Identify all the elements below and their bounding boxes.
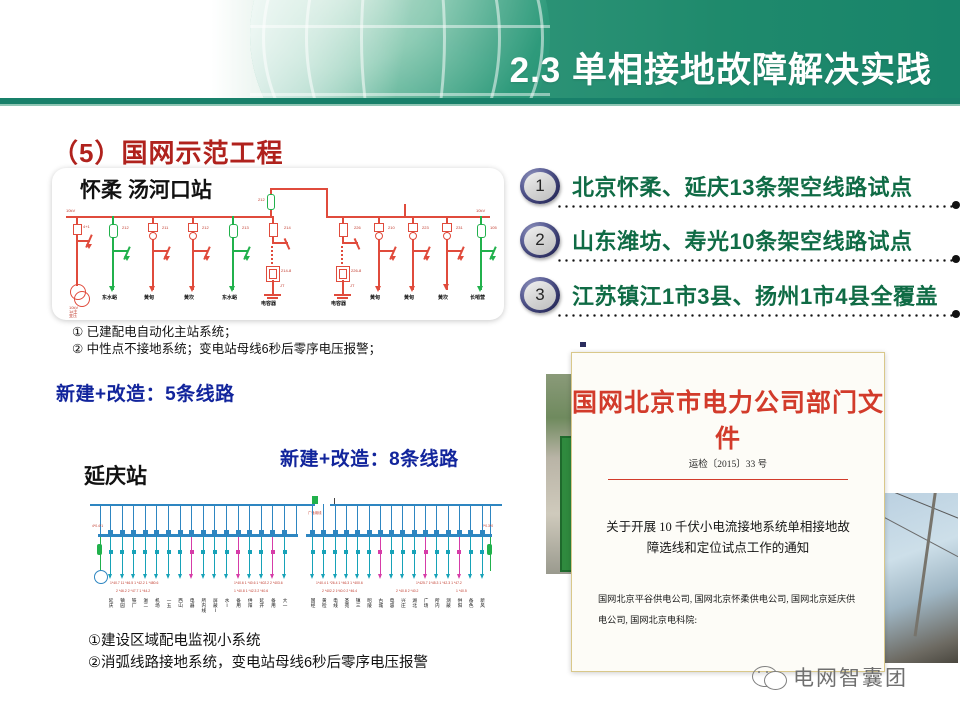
yanqing-feeder-name: 铁厂 bbox=[131, 598, 137, 608]
leader-end-dot bbox=[952, 310, 960, 318]
yanqing-single-line-diagram: 广备用线 4*0.4*1 2*0.3*0 1*40.7 11 *46.5 1 *… bbox=[84, 490, 504, 622]
yanqing-feeder-name: 昭陵 bbox=[367, 598, 373, 608]
yanqing-feeder-name: 延开 bbox=[259, 598, 265, 608]
yanqing-station-title: 延庆站 bbox=[84, 460, 147, 490]
yanqing-feeder-name: 测蔽 bbox=[446, 598, 452, 608]
jt-label: JT bbox=[350, 284, 354, 288]
yanqing-feeder-name: 一五 bbox=[166, 598, 172, 608]
feeder-number: 211 bbox=[162, 226, 168, 230]
page-title: 2.3 单相接地故障解决实践 bbox=[510, 42, 932, 93]
yanqing-feeder-name: 供阳 bbox=[247, 598, 253, 608]
feeder-number: 226 bbox=[354, 226, 361, 230]
feeder-name: 东水峪 bbox=[222, 296, 237, 301]
feeder-number: 214 bbox=[284, 226, 291, 230]
document-body: 国网北京平谷供电公司, 国网北京怀柔供电公司, 国网北京延庆供电公司, 国网北京… bbox=[598, 589, 860, 631]
official-document-image: 国网北京市电力公司部门文件 运检〔2015〕33 号 关于开展 10 千伏小电流… bbox=[571, 352, 885, 672]
yanqing-feeder-name: 广场 bbox=[423, 598, 429, 608]
yanqing-feeder-name: 机场 bbox=[154, 598, 160, 608]
feeder-number: 213 bbox=[242, 226, 249, 230]
feeder-name: 黄甸 bbox=[404, 296, 414, 301]
feeder-name: 黄甸 bbox=[370, 296, 380, 301]
yanqing-feeder-name: 供阳 bbox=[457, 598, 463, 608]
yanqing-feeder-name: 延庆 bbox=[108, 598, 114, 608]
yanqing-feeder-name: 电线 bbox=[333, 598, 339, 608]
yanqing-tie-label: 广备用线 bbox=[308, 512, 322, 515]
feeder-name: 电容器 bbox=[261, 302, 276, 307]
jt-label: JT bbox=[280, 284, 284, 288]
yanqing-feeder-name: 滋二 bbox=[143, 598, 149, 608]
yanqing-feeder-name: 西山 bbox=[178, 598, 184, 608]
pt-label: 226-8 bbox=[351, 269, 361, 273]
decorative-dots bbox=[580, 342, 652, 347]
feeder-number: 231 bbox=[456, 226, 463, 230]
document-title: 关于开展 10 千伏小电流接地系统单相接地故障选线和定位试点工作的通知 bbox=[606, 517, 850, 559]
wechat-icon bbox=[752, 666, 786, 688]
feeder-name: 电容器 bbox=[331, 302, 346, 307]
bus-label-left: 10kV bbox=[66, 209, 75, 213]
number-badge-icon: 1 bbox=[520, 168, 560, 204]
yanqing-feeder-name: 兴庄 bbox=[400, 598, 406, 608]
feeder-name: 长哨营 bbox=[470, 296, 485, 301]
transformer-label: 10kV 1#主 变压 bbox=[69, 306, 78, 318]
number-badge-icon: 3 bbox=[520, 277, 560, 313]
bus-label-right: 10kV bbox=[476, 209, 485, 213]
feeder-number: 212 bbox=[202, 226, 209, 230]
yanqing-feeder-name: 屏蔽Ⅰ bbox=[212, 598, 218, 613]
yanqing-feeder-name: 圣苑 bbox=[344, 598, 350, 608]
huairou-note-1: ① 已建配电自动化主站系统； bbox=[72, 324, 381, 341]
yanqing-feeder-name: 古城 bbox=[378, 598, 384, 608]
pilot-item-label: 山东潍坊、寿光10条架空线路试点 bbox=[572, 224, 912, 256]
yanqing-note-1: ①建设区域配电监视小系统 bbox=[88, 630, 428, 652]
yanqing-feeder-name: 镇园 bbox=[120, 598, 126, 608]
feeder-name: 黄甸 bbox=[144, 296, 154, 301]
yanqing-feeder-name: 国经 bbox=[310, 598, 316, 608]
yanqing-feeder-name: 湖北 bbox=[412, 598, 418, 608]
yanqing-feeder-name: 所内 bbox=[434, 598, 440, 608]
huairou-note-2: ② 中性点不接地系统；变电站母线6秒后零序电压报警； bbox=[72, 341, 381, 358]
huairou-diagram-card: 怀柔 汤河口站 10kV 212 10kV 4+1 10kV 1#主 变压 bbox=[52, 168, 504, 320]
slide-header: 2.3 单相接地故障解决实践 bbox=[0, 0, 960, 100]
yanqing-feeder-name: 所内线 bbox=[201, 598, 207, 613]
dotted-leader bbox=[556, 259, 954, 262]
feeder-number: 210 bbox=[388, 226, 395, 230]
section-title: （5）国网示范工程 bbox=[52, 133, 283, 170]
globe-fade-mask bbox=[250, 0, 550, 100]
yanqing-feeder-name: 电器 bbox=[189, 598, 195, 608]
yanqing-notes: ①建设区域配电监视小系统 ②消弧线路接地系统，变电站母线6秒后零序电压报警 bbox=[88, 630, 428, 674]
huairou-line-count-label: 新建+改造：5条线路 bbox=[56, 379, 235, 406]
leader-end-dot bbox=[952, 255, 960, 263]
huairou-station-title: 怀柔 汤河口站 bbox=[80, 174, 212, 204]
feeder-name: 东水峪 bbox=[102, 296, 117, 301]
feeder-name: 黄坎 bbox=[184, 296, 194, 301]
yanqing-feeder-name: 备色 bbox=[468, 598, 474, 608]
yanqing-feeder-name: 水Ⅰ bbox=[224, 598, 230, 608]
yanqing-note-2: ②消弧线路接地系统，变电站母线6秒后零序电压报警 bbox=[88, 652, 428, 674]
dotted-leader bbox=[556, 205, 954, 208]
header-rule-secondary bbox=[0, 104, 960, 106]
pt-label: 214-8 bbox=[281, 269, 291, 273]
yanqing-feeder-name: 备用 bbox=[236, 598, 242, 608]
feeder-number: 223 bbox=[422, 226, 429, 230]
yanqing-feeder-name: 电容 bbox=[389, 598, 395, 608]
leader-end-dot bbox=[952, 201, 960, 209]
document-header: 国网北京市电力公司部门文件 bbox=[572, 383, 884, 455]
pilot-item-label: 北京怀柔、延庆13条架空线路试点 bbox=[572, 170, 912, 202]
dotted-leader bbox=[556, 314, 954, 317]
watermark-label: 电网智囊团 bbox=[793, 662, 908, 692]
feeder-number: 105 bbox=[490, 226, 497, 230]
yanqing-line-count-label: 新建+改造：8条线路 bbox=[280, 444, 459, 471]
yanqing-feeder-name: 大一 bbox=[282, 598, 288, 608]
document-number: 运检〔2015〕33 号 bbox=[572, 456, 884, 470]
document-divider bbox=[608, 479, 848, 480]
yanqing-feeder-name: 备用 bbox=[270, 598, 276, 608]
number-badge-icon: 2 bbox=[520, 222, 560, 258]
huairou-notes: ① 已建配电自动化主站系统； ② 中性点不接地系统；变电站母线6秒后零序电压报警… bbox=[72, 324, 381, 358]
yanqing-feeder-name: 黄检 bbox=[321, 598, 327, 608]
yanqing-feeder-name: 新风 bbox=[480, 598, 486, 608]
feeder-number: 212 bbox=[122, 226, 129, 230]
feeder-name: 黄坎 bbox=[438, 296, 448, 301]
pilot-item-label: 江苏镇江1市3县、扬州1市4县全覆盖 bbox=[572, 279, 938, 311]
yanqing-feeder-name: 镇三 bbox=[355, 598, 361, 608]
tie-number: 212 bbox=[258, 198, 265, 202]
watermark: 电网智囊团 bbox=[752, 662, 908, 692]
